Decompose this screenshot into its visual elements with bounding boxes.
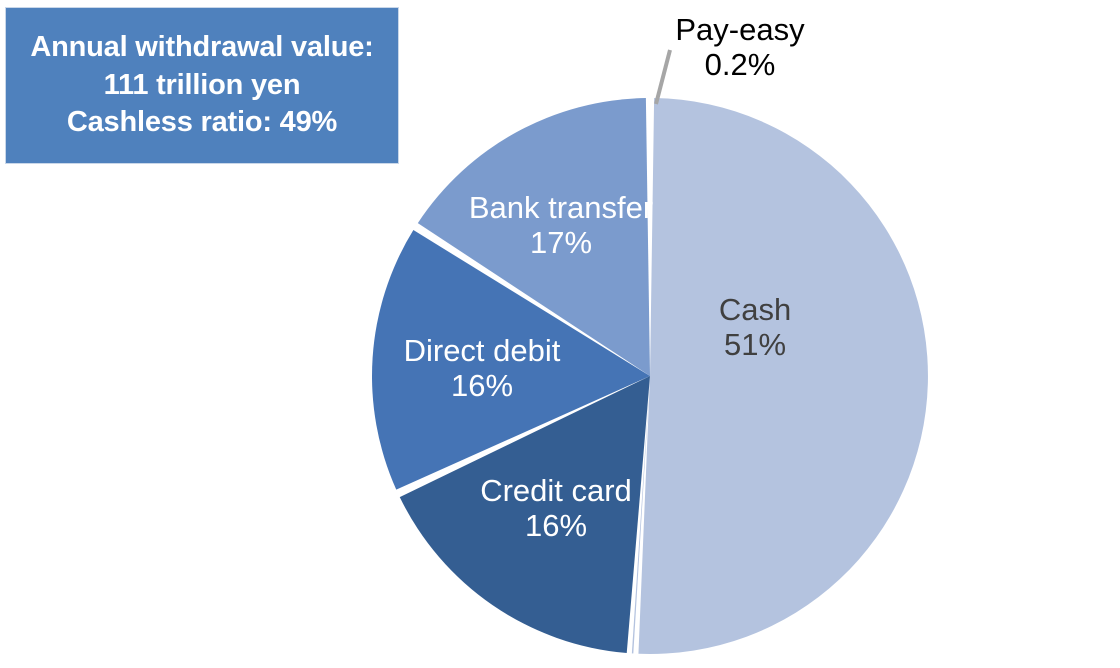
pie-chart <box>0 0 1120 668</box>
pay-easy-leader-line <box>656 50 670 104</box>
pie-chart-svg <box>0 0 1120 668</box>
pie-slice-group <box>372 98 928 654</box>
pie-slice-cash[interactable] <box>638 98 928 654</box>
chart-page: Annual withdrawal value: 111 trillion ye… <box>0 0 1120 668</box>
